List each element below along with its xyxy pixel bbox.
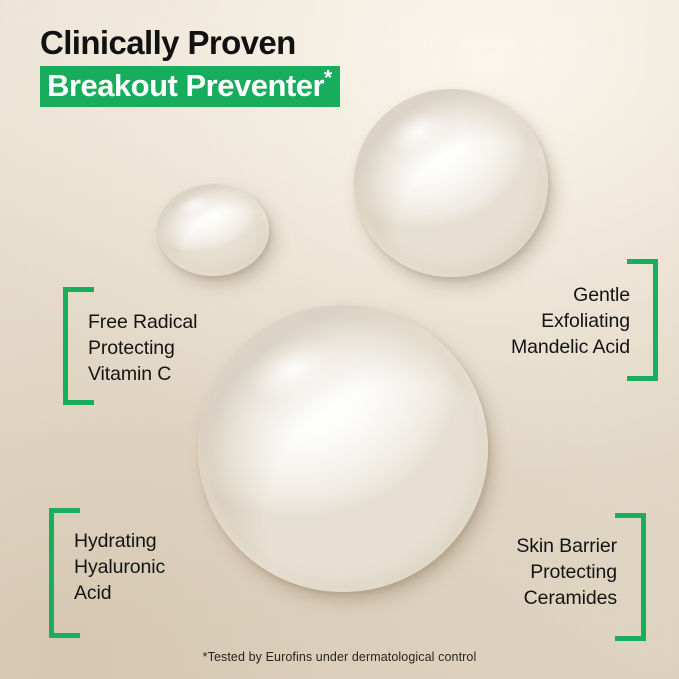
headline-asterisk: * — [324, 67, 332, 90]
callout-ceramides: Skin Barrier Protecting Ceramides — [516, 533, 617, 611]
serum-droplet-large — [198, 305, 488, 592]
headline-highlight: Breakout Preventer* — [40, 66, 340, 107]
callout-line: Vitamin C — [88, 361, 197, 387]
headline-line-2: Breakout Preventer* — [47, 68, 332, 103]
bracket-ceramides — [615, 513, 646, 641]
headline-line-1: Clinically Proven — [40, 23, 340, 63]
headline-block: Clinically Proven Breakout Preventer* — [40, 23, 340, 107]
headline-line-2-text: Breakout Preventer — [47, 68, 324, 103]
serum-droplet-small — [157, 184, 269, 276]
callout-hyaluronic: Hydrating Hyaluronic Acid — [74, 528, 165, 606]
callout-line: Acid — [74, 580, 165, 606]
callout-line: Ceramides — [516, 585, 617, 611]
product-infographic: Clinically Proven Breakout Preventer* Fr… — [0, 0, 679, 679]
callout-line: Free Radical — [88, 309, 197, 335]
footnote-disclaimer: *Tested by Eurofins under dermatological… — [0, 650, 679, 664]
callout-line: Gentle — [511, 282, 630, 308]
callout-line: Skin Barrier — [516, 533, 617, 559]
bracket-mandelic — [627, 259, 658, 381]
callout-vitamin-c: Free Radical Protecting Vitamin C — [88, 309, 197, 387]
callout-line: Protecting — [516, 559, 617, 585]
callout-line: Mandelic Acid — [511, 334, 630, 360]
callout-line: Hyaluronic — [74, 554, 165, 580]
callout-line: Protecting — [88, 335, 197, 361]
callout-mandelic: Gentle Exfoliating Mandelic Acid — [511, 282, 630, 360]
serum-droplet-medium — [354, 89, 548, 277]
callout-line: Hydrating — [74, 528, 165, 554]
callout-line: Exfoliating — [511, 308, 630, 334]
